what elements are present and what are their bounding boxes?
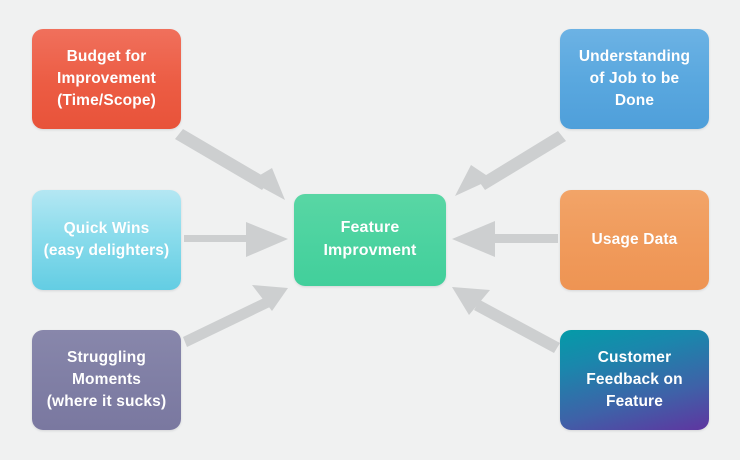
diagram-canvas: Budget for Improvement (Time/Scope) Quic…: [0, 0, 740, 460]
arrow-budget-to-center: [175, 129, 285, 200]
arrow-usage-to-center: [452, 221, 558, 257]
node-understanding-of-job[interactable]: Understanding of Job to be Done: [560, 29, 709, 129]
node-struggling-moments-label: Struggling Moments (where it sucks): [47, 347, 167, 413]
node-feature-improvement-label: Feature Improvment: [323, 217, 416, 262]
node-usage-data-label: Usage Data: [592, 229, 678, 251]
node-budget-for-improvement[interactable]: Budget for Improvement (Time/Scope): [32, 29, 181, 129]
arrow-struggling-to-center: [183, 285, 288, 347]
arrow-feedback-to-center: [452, 287, 560, 353]
node-usage-data[interactable]: Usage Data: [560, 190, 709, 290]
node-struggling-moments[interactable]: Struggling Moments (where it sucks): [32, 330, 181, 430]
node-customer-feedback[interactable]: Customer Feedback on Feature: [560, 330, 709, 430]
node-quick-wins[interactable]: Quick Wins (easy delighters): [32, 190, 181, 290]
node-budget-label: Budget for Improvement (Time/Scope): [57, 46, 156, 112]
node-customer-feedback-label: Customer Feedback on Feature: [586, 347, 682, 413]
arrow-understanding-to-center: [455, 131, 566, 196]
arrow-quick-wins-to-center: [184, 222, 288, 257]
node-feature-improvement[interactable]: Feature Improvment: [294, 194, 446, 286]
node-quick-wins-label: Quick Wins (easy delighters): [44, 218, 170, 262]
node-understanding-of-job-label: Understanding of Job to be Done: [579, 46, 690, 112]
